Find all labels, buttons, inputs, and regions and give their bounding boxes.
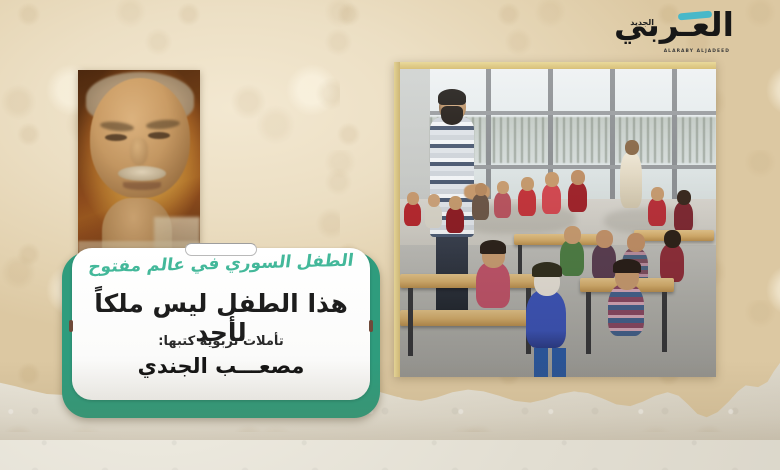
publication-logo[interactable]: العـربي الجديد ALARABY ALJADEED [610,8,738,60]
desk [400,274,540,288]
student-featured [526,290,566,348]
student [608,284,644,336]
student-featured-hair [532,262,562,277]
classroom-top-border [394,62,716,69]
student [542,184,561,214]
author-portrait-photo [78,70,200,275]
student [494,192,511,218]
student-head [428,194,440,207]
series-kicker: الطفل السوري في عالم مفتوح [70,250,372,277]
standing-adult-head [625,140,639,155]
student-head [497,181,509,194]
window-mullion [486,69,491,199]
portrait-warm-tone-overlay [78,70,200,275]
desk-leg [662,292,667,352]
student [648,198,666,226]
classroom-left-border [394,62,400,377]
student-head [545,172,559,187]
student [660,244,684,282]
window-rail [430,111,716,115]
student-head [627,233,645,252]
student-featured-legs [552,348,566,377]
student [592,244,616,280]
classroom-photo [394,62,716,377]
desk [400,310,546,326]
student-head [475,183,487,196]
student [560,240,584,276]
student [674,202,693,232]
student-hair [613,259,641,273]
poster-canvas: الطفل السوري في عالم مفتوح هذا الطفل ليس… [0,0,780,470]
student [518,188,536,216]
teacher-hair [438,89,466,105]
article-author: مصعـــب الجندي [72,354,370,378]
window-mullion [672,69,677,199]
student-head [596,230,613,248]
teacher-beard [441,106,463,125]
student-head [677,190,691,205]
student [425,204,442,228]
title-card: الطفل السوري في عالم مفتوح هذا الطفل ليس… [62,252,380,418]
student-head [564,226,581,244]
desk-leg [586,292,591,354]
student [404,202,421,226]
logo-wordmark-main: العـربي [610,8,738,41]
standing-adult-body [620,152,642,208]
student-head [407,192,419,205]
desk-leg [408,288,413,356]
student-head [449,196,462,210]
student [446,207,464,233]
window-mullion [610,69,615,199]
logo-wordmark-sub: الجديد [630,18,654,27]
student-head [651,187,664,201]
student [568,182,587,212]
student [472,194,489,220]
article-subline: تأملات تربوية كتبها: [72,334,370,349]
student-head [571,170,585,185]
student-head [664,230,681,248]
student-featured-legs [534,348,548,377]
student-head [521,177,534,191]
student-hair [480,240,506,254]
desk-leg [518,245,522,275]
title-card-body: الطفل السوري في عالم مفتوح هذا الطفل ليس… [72,248,370,400]
logo-latin-subtitle: ALARABY ALJADEED [664,49,730,54]
portrait-image [78,70,200,275]
student [476,262,510,308]
